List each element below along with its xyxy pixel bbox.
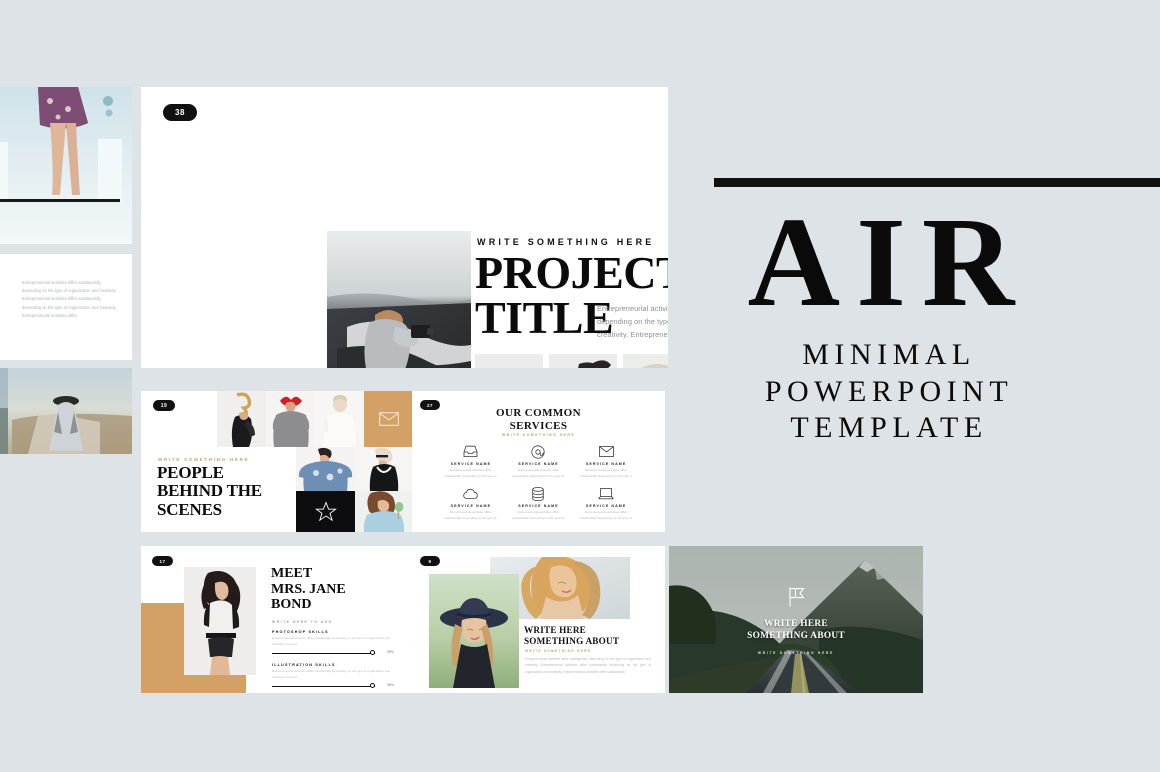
service-item[interactable]: SERVICE NAME Entrepreneurial activities …: [442, 443, 500, 479]
woman-in-floral-top-image: [296, 447, 355, 491]
slide-number-badge: 9: [420, 556, 440, 566]
services-grid: SERVICE NAME Entrepreneurial activities …: [442, 443, 635, 522]
service-desc: Entrepreneurial activities differ substa…: [442, 510, 500, 521]
brand-logo-text: AIR: [714, 210, 1160, 315]
skill-name: ILLUSTRATION SKILLS: [272, 663, 394, 667]
meet-jane-bond-slide[interactable]: 17 MEET MRS. JANE BOND WRITE HERE TO ADD: [141, 546, 413, 693]
flag-icon: [785, 586, 807, 608]
photographer-on-black-sand-beach-image: [327, 231, 471, 368]
people-title-line-3: SCENES: [157, 501, 287, 519]
poster-canvas: Entrepreneurial activities differ substa…: [0, 0, 1160, 772]
mountain-title-line-1: WRITE HERE: [669, 618, 923, 630]
skill-track: [272, 653, 375, 654]
service-desc: Entrepreneurial activities differ substa…: [577, 468, 635, 479]
tile-woman-in-floral-top[interactable]: [296, 447, 355, 491]
woman-in-white-dress-portrait-image: [184, 567, 256, 675]
skill-progress-bar[interactable]: 95%: [272, 650, 394, 656]
writehere-title: WRITE HERE SOMETHING ABOUT: [524, 625, 654, 647]
woman-with-gold-balloon-3-image: [217, 391, 266, 447]
service-name: SERVICE NAME: [442, 504, 500, 508]
people-eyebrow: WRITE SOMETHING HERE: [158, 457, 249, 462]
brand-rule-divider: [714, 178, 1160, 187]
brand-block: AIR MINIMAL POWERPOINT TEMPLATE: [714, 178, 1160, 447]
writehere-eyebrow: WRITE SOMETHING HERE: [525, 649, 591, 653]
edge-slide-middle-text: Entrepreneurial activities differ substa…: [22, 279, 118, 320]
brand-subtitle-line-3: TEMPLATE: [714, 410, 1064, 447]
mountain-title-line-2: SOMETHING ABOUT: [669, 630, 923, 642]
skill-desc: Entrepreneurial activities differ substa…: [272, 669, 394, 680]
skill-desc: Entrepreneurial activities differ substa…: [272, 636, 394, 647]
tile-black-star[interactable]: [296, 491, 355, 532]
tile-woman-with-gold-balloon[interactable]: [217, 391, 266, 447]
at-sign-icon: [510, 443, 568, 460]
inbox-tray-icon: [442, 443, 500, 460]
hero-slide-project-title[interactable]: 38: [141, 87, 668, 368]
cloud-icon: [442, 485, 500, 502]
writehere-title-line-1: WRITE HERE: [524, 625, 654, 636]
service-desc: Entrepreneurial activities differ substa…: [577, 510, 635, 521]
services-subtitle: WRITE SOMETHING HERE: [412, 433, 665, 437]
skill-knob[interactable]: [370, 683, 375, 688]
tile-woman-with-ice-cream[interactable]: [355, 491, 413, 532]
services-title: OUR COMMON SERVICES: [412, 407, 665, 433]
jane-eyebrow: WRITE HERE TO ADD: [272, 620, 333, 624]
service-desc: Entrepreneurial activities differ substa…: [510, 510, 568, 521]
slide-number-badge: 17: [152, 556, 173, 566]
jane-title: MEET MRS. JANE BOND: [271, 566, 391, 613]
photographer-photo: [327, 231, 471, 368]
service-name: SERVICE NAME: [577, 462, 635, 466]
service-name: SERVICE NAME: [510, 504, 568, 508]
woman-with-ice-cream-image: [355, 491, 413, 532]
slide-number-badge: 19: [153, 400, 175, 411]
thumb-dancer[interactable]: [549, 354, 617, 368]
dancer-in-motion-photo-image: [549, 354, 617, 368]
people-title-line-2: BEHIND THE: [157, 482, 287, 500]
brand-subtitle-line-2: POWERPOINT: [714, 374, 1064, 411]
service-item[interactable]: SERVICE NAME Entrepreneurial activities …: [510, 443, 568, 479]
woman-in-hat-photo: [429, 574, 519, 688]
woman-with-hat-on-desert-road-image: [0, 368, 132, 454]
writehere-blurb: Entrepreneurial activities differ substa…: [525, 656, 651, 675]
people-top-tile-row: [217, 391, 413, 447]
our-common-services-slide[interactable]: 27 OUR COMMON SERVICES WRITE SOMETHING H…: [412, 391, 665, 532]
service-item[interactable]: SERVICE NAME Entrepreneurial activities …: [510, 485, 568, 521]
hero-blurb: Entrepreneurial activities differ substa…: [597, 303, 668, 341]
envelope-icon: [577, 443, 635, 460]
services-title-line-2: SERVICES: [412, 420, 665, 433]
skill-row: ILLUSTRATION SKILLS Entrepreneurial acti…: [272, 663, 394, 689]
mountain-road-slide[interactable]: WRITE HERE SOMETHING ABOUT WRITE SOMETHI…: [669, 546, 923, 693]
service-item[interactable]: SERVICE NAME Entrepreneurial activities …: [577, 443, 635, 479]
skill-percent: 95%: [387, 650, 394, 654]
jane-title-line-2: MRS. JANE: [271, 582, 391, 598]
brand-subtitle-line-1: MINIMAL: [714, 337, 1064, 374]
people-title: PEOPLE BEHIND THE SCENES: [157, 464, 287, 519]
slide-number-badge: 38: [163, 104, 197, 121]
edge-slide-top-preview[interactable]: [0, 87, 132, 244]
tile-woman-in-sunglasses-swimsuit[interactable]: [355, 447, 413, 491]
tile-woman-in-white-top[interactable]: [315, 391, 364, 447]
hero-eyebrow: WRITE SOMETHING HERE: [477, 237, 655, 247]
laptop-icon: [577, 485, 635, 502]
service-name: SERVICE NAME: [442, 462, 500, 466]
skill-knob[interactable]: [370, 650, 375, 655]
edge-slide-bottom-preview[interactable]: [0, 368, 132, 454]
tile-woman-with-red-bow[interactable]: [266, 391, 315, 447]
service-item[interactable]: SERVICE NAME Entrepreneurial activities …: [442, 485, 500, 521]
jane-portrait: [184, 567, 256, 675]
jane-title-line-3: BOND: [271, 597, 391, 613]
jane-title-line-1: MEET: [271, 566, 391, 582]
mountain-subtitle: WRITE SOMETHING HERE: [669, 651, 923, 655]
tile-envelope-accent[interactable]: [364, 391, 413, 447]
woman-with-red-bow-image: [266, 391, 315, 447]
hero-thumbnail-row: [475, 354, 668, 368]
hero-title-line-1: PROJECT: [475, 250, 668, 295]
jane-skills-list: PHOTOSHOP SKILLS Entrepreneurial activit…: [272, 630, 394, 689]
skill-percent: 95%: [387, 683, 394, 687]
skill-progress-bar[interactable]: 95%: [272, 683, 394, 689]
people-title-line-1: PEOPLE: [157, 464, 287, 482]
services-title-line-1: OUR COMMON: [412, 407, 665, 420]
people-right-tile-grid: [296, 447, 413, 532]
woman-in-sunglasses-swimsuit-image: [355, 447, 413, 491]
people-behind-scenes-slide[interactable]: 19: [141, 391, 413, 532]
skill-name: PHOTOSHOP SKILLS: [272, 630, 394, 634]
service-item[interactable]: SERVICE NAME Entrepreneurial activities …: [577, 485, 635, 521]
writehere-title-line-2: SOMETHING ABOUT: [524, 636, 654, 647]
service-name: SERVICE NAME: [577, 504, 635, 508]
envelope-icon: [379, 412, 399, 426]
woman-in-blue-hat-field-image: [429, 574, 519, 688]
mountain-title: WRITE HERE SOMETHING ABOUT: [669, 618, 923, 642]
woman-in-white-top-image: [315, 391, 364, 447]
skill-row: PHOTOSHOP SKILLS Entrepreneurial activit…: [272, 630, 394, 656]
black-sneaker-product-photo-image: [475, 354, 543, 368]
thumb-chair[interactable]: [623, 354, 668, 368]
service-desc: Entrepreneurial activities differ substa…: [442, 468, 500, 479]
star-icon: [315, 501, 337, 523]
write-here-something-about-slide[interactable]: 9: [412, 546, 665, 693]
service-name: SERVICE NAME: [510, 462, 568, 466]
skill-track: [272, 686, 375, 687]
designer-chair-product-photo-image: [623, 354, 668, 368]
thumb-sneaker[interactable]: [475, 354, 543, 368]
woman-in-floral-skirt-barefoot-image: [0, 87, 132, 244]
mountain-overlay-content: WRITE HERE SOMETHING ABOUT WRITE SOMETHI…: [669, 586, 923, 655]
edge-slide-middle-preview[interactable]: Entrepreneurial activities differ substa…: [0, 254, 132, 360]
brand-subtitle: MINIMAL POWERPOINT TEMPLATE: [714, 337, 1160, 447]
service-desc: Entrepreneurial activities differ substa…: [510, 468, 568, 479]
database-icon: [510, 485, 568, 502]
